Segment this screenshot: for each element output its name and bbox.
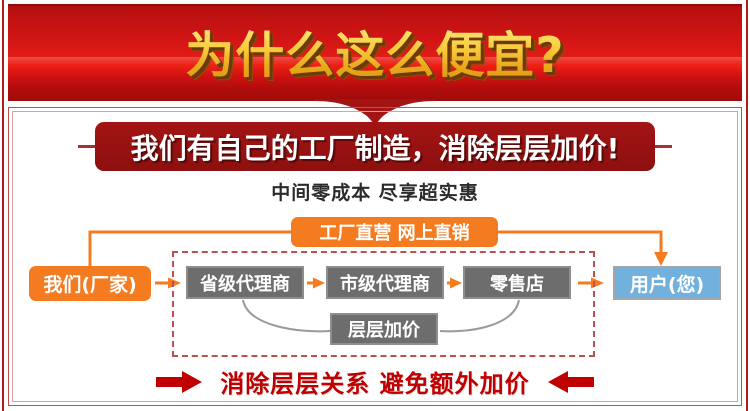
node-retail-store-label: 零售店 — [490, 270, 544, 296]
node-factory: 我们(厂家) — [29, 266, 151, 301]
bottom-slogan: 消除层层关系 避免额外加价 — [0, 364, 750, 399]
flow-diagram: 工厂直营 网上直销 我们(厂家) 省级代理商 市级代理商 零售店 层层加价 用户… — [0, 0, 750, 411]
node-user-label: 用户(您) — [630, 270, 704, 297]
node-retail-store: 零售店 — [463, 266, 571, 299]
node-layered-markup-label: 层层加价 — [348, 316, 420, 342]
arrow-right-icon — [156, 371, 202, 393]
direct-sales-pill: 工厂直营 网上直销 — [291, 217, 498, 247]
arrow-left-icon — [548, 371, 594, 393]
node-provincial-agent: 省级代理商 — [186, 266, 304, 299]
node-provincial-agent-label: 省级代理商 — [200, 270, 290, 296]
arrow-down-to-user-icon — [654, 252, 668, 266]
node-layered-markup: 层层加价 — [330, 313, 438, 345]
node-city-agent-label: 市级代理商 — [340, 270, 430, 296]
node-factory-label: 我们(厂家) — [43, 270, 136, 297]
direct-sales-label: 工厂直营 网上直销 — [319, 219, 469, 245]
slogan-text: 消除层层关系 避免额外加价 — [220, 364, 529, 399]
node-user: 用户(您) — [613, 266, 721, 300]
promo-banner: 为什么这么便宜? 我们有自己的工厂制造，消除层层加价! 中间零成本 尽享超实惠 — [0, 0, 750, 411]
node-city-agent: 市级代理商 — [326, 266, 444, 299]
